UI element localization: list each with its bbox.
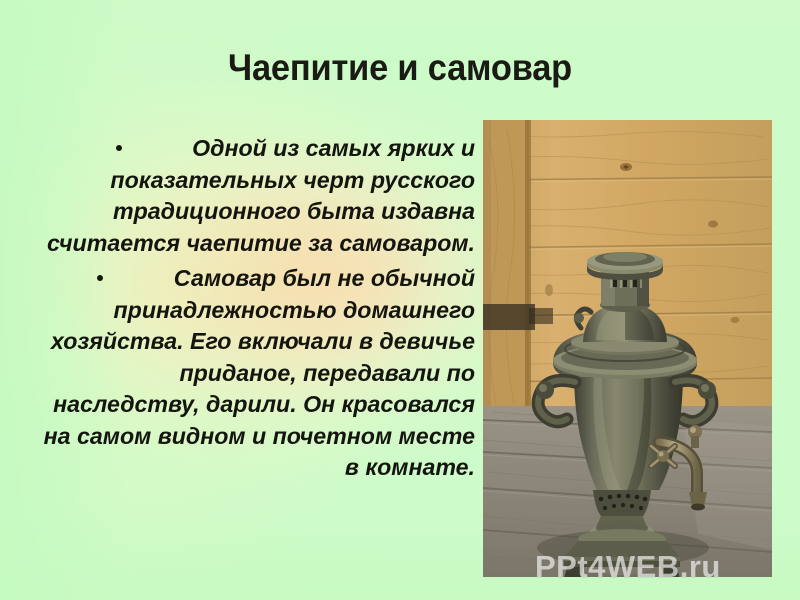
- list-item: Одной из самых ярких и показательных чер…: [40, 133, 475, 259]
- bullet-text: Самовар был не обычной принадлежностью д…: [40, 263, 475, 484]
- bullet-dot-icon: [97, 275, 103, 281]
- samovar-photo-illustration: [483, 120, 772, 577]
- slide-canvas: Чаепитие и самовар Одной из самых ярких …: [0, 0, 800, 600]
- samovar-photo: [483, 120, 772, 577]
- bullet-dot-icon: [116, 145, 122, 151]
- bullet-list: Одной из самых ярких и показательных чер…: [40, 133, 475, 488]
- watermark: PPt4WEB.ru: [535, 549, 721, 585]
- slide-title: Чаепитие и самовар: [28, 47, 772, 89]
- list-item: Самовар был не обычной принадлежностью д…: [40, 263, 475, 484]
- bullet-text: Одной из самых ярких и показательных чер…: [40, 133, 475, 259]
